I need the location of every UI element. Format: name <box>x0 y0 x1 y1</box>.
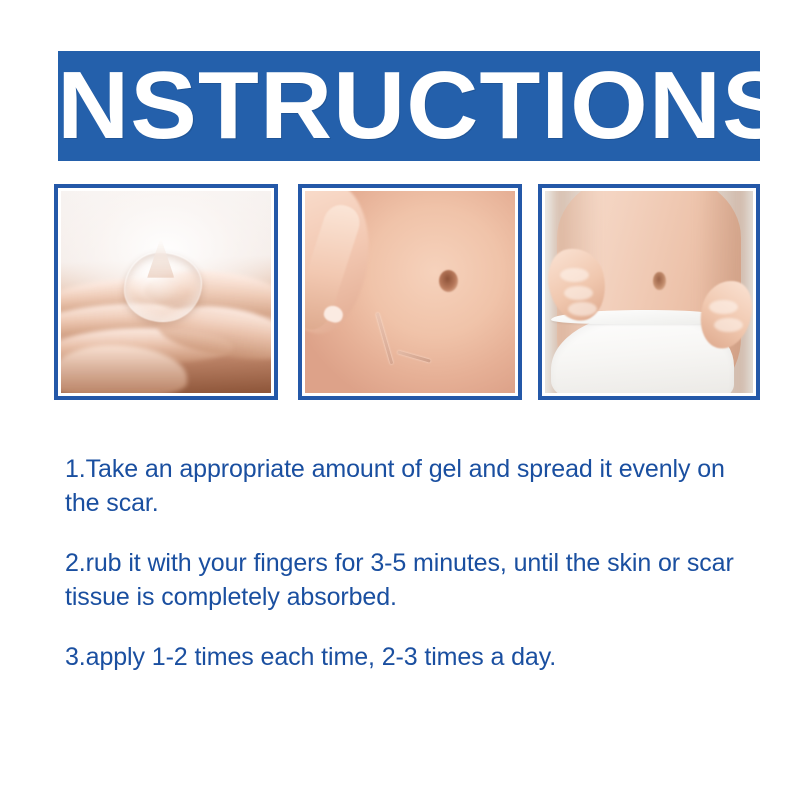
navel-shape <box>653 272 665 290</box>
photo-scar-on-abdomen <box>298 184 522 400</box>
instructions-banner: INSTRUCTIONS <box>58 51 760 161</box>
photo-gel-in-palm <box>54 184 278 400</box>
scar-line-lower <box>398 350 431 362</box>
instruction-step-1: 1.Take an appropriate amount of gel and … <box>65 452 755 520</box>
navel-shape <box>439 270 458 292</box>
knuckle-highlight <box>564 286 593 300</box>
photo-smooth-abdomen-image <box>545 191 753 393</box>
page-title: INSTRUCTIONS <box>58 58 760 154</box>
scar-line <box>376 313 393 364</box>
photo-gel-in-palm-image <box>61 191 271 393</box>
instruction-step-3: 3.apply 1-2 times each time, 2-3 times a… <box>65 640 755 674</box>
instruction-steps: 1.Take an appropriate amount of gel and … <box>65 452 755 674</box>
photo-scar-on-abdomen-image <box>305 191 515 393</box>
photo-smooth-abdomen <box>538 184 760 400</box>
instruction-image-gallery <box>54 184 760 400</box>
instructions-page: INSTRUCTIONS <box>0 0 800 800</box>
instruction-step-2: 2.rub it with your fingers for 3-5 minut… <box>65 546 755 614</box>
knuckle-highlight <box>560 268 589 282</box>
